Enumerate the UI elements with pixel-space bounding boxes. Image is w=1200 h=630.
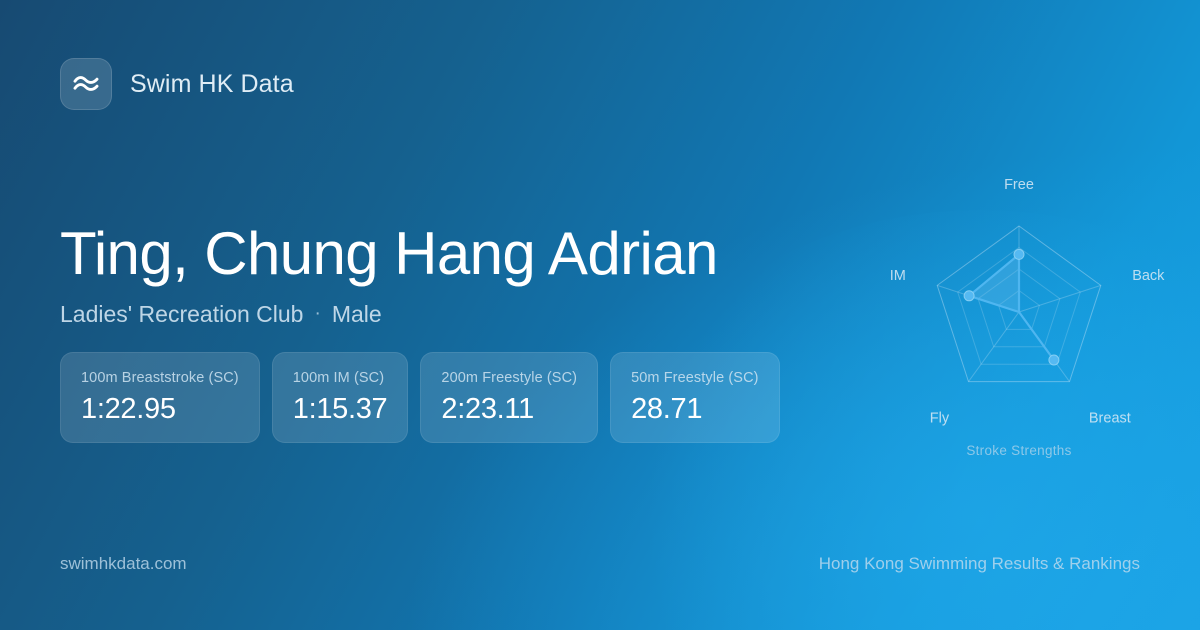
footer: swimhkdata.com Hong Kong Swimming Result…	[60, 554, 1140, 574]
radar-label-back: Back	[1132, 268, 1165, 284]
stat-card: 100m Breaststroke (SC) 1:22.95	[60, 352, 260, 443]
stat-card-value: 2:23.11	[441, 393, 577, 426]
athlete-name: Ting, Chung Hang Adrian	[60, 222, 820, 287]
athlete-gender: Male	[332, 301, 382, 328]
hero-block: Ting, Chung Hang Adrian Ladies' Recreati…	[60, 222, 820, 328]
wave-approx-icon	[71, 73, 101, 95]
radar-svg: FreeBackBreastFlyIM	[869, 160, 1169, 440]
radar-label-breast: Breast	[1089, 410, 1131, 426]
stat-card-value: 1:22.95	[81, 393, 239, 426]
stat-card-value: 28.71	[631, 393, 759, 426]
radar-point-im	[964, 291, 974, 301]
radar-caption: Stroke Strengths	[869, 443, 1169, 458]
radar-label-fly: Fly	[930, 410, 950, 426]
stat-card-label: 200m Freestyle (SC)	[441, 370, 577, 386]
radar-axis-labels: FreeBackBreastFlyIM	[890, 177, 1165, 426]
stat-card: 100m IM (SC) 1:15.37	[272, 352, 409, 443]
stat-card-label: 50m Freestyle (SC)	[631, 370, 759, 386]
radar-point-breast	[1049, 355, 1059, 365]
stat-card: 200m Freestyle (SC) 2:23.11	[420, 352, 598, 443]
brand-lockup: Swim HK Data	[60, 58, 294, 110]
radar-label-im: IM	[890, 268, 906, 284]
footer-site-url: swimhkdata.com	[60, 554, 187, 574]
stat-card-list: 100m Breaststroke (SC) 1:22.95 100m IM (…	[60, 352, 780, 443]
social-share-card: Swim HK Data Ting, Chung Hang Adrian Lad…	[0, 0, 1200, 630]
radar-point-free	[1014, 249, 1024, 259]
radar-label-free: Free	[1004, 177, 1034, 193]
stat-card-label: 100m Breaststroke (SC)	[81, 370, 239, 386]
app-logo-tile	[60, 58, 112, 110]
stat-card-value: 1:15.37	[293, 393, 388, 426]
meta-separator: ·	[314, 303, 320, 325]
stroke-strengths-radar: FreeBackBreastFlyIM Stroke Strengths	[869, 160, 1169, 470]
stat-card-label: 100m IM (SC)	[293, 370, 388, 386]
athlete-club: Ladies' Recreation Club	[60, 301, 303, 328]
brand-name: Swim HK Data	[130, 70, 294, 99]
radar-spoke	[1019, 285, 1101, 312]
athlete-meta: Ladies' Recreation Club · Male	[60, 301, 820, 328]
stat-card: 50m Freestyle (SC) 28.71	[610, 352, 780, 443]
radar-series-area	[969, 254, 1054, 360]
footer-tagline: Hong Kong Swimming Results & Rankings	[819, 554, 1140, 574]
